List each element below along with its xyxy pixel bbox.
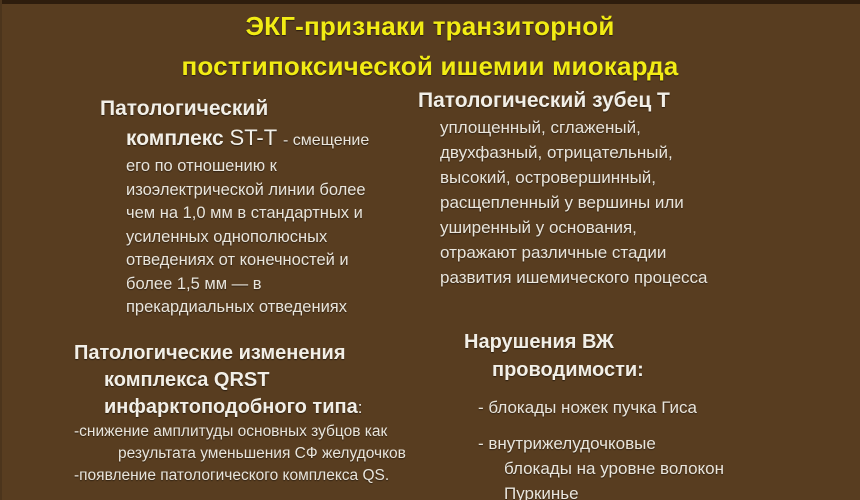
t-wave-body-line-7: развития ишемического процесса: [418, 265, 788, 290]
vzh-bullet-2-line-2: блокады на уровне волокон: [478, 456, 844, 481]
section-ventricular-conduction: Нарушения ВЖ проводимости: - блокады нож…: [464, 328, 844, 500]
t-wave-heading: Патологический зубец Т: [418, 86, 788, 115]
top-edge-strip: [0, 0, 860, 4]
vzh-heading-line-2: проводимости:: [464, 356, 844, 384]
st-t-body-line-3: чем на 1,0 мм в стандартных и: [100, 202, 412, 226]
t-wave-body-line-6: отражают различные стадии: [418, 240, 788, 265]
st-t-body-line-1: его по отношению к: [100, 155, 412, 179]
st-t-heading-tail: - смещение: [283, 132, 369, 149]
t-wave-body-line-4: расщепленный у вершины или: [418, 190, 788, 215]
st-t-heading-bold-word: комплекс: [126, 127, 224, 150]
slide-canvas: ЭКГ-признаки транзиторной постгипоксичес…: [0, 0, 860, 500]
vzh-heading-line-1: Нарушения ВЖ: [464, 328, 844, 356]
vzh-bullet-2-line-3: Пуркинье: [478, 481, 844, 500]
vzh-spacer-2: [464, 420, 844, 431]
t-wave-body-line-5: уширенный у основания,: [418, 215, 788, 240]
qrst-heading-colon: :: [358, 398, 363, 417]
slide-title-line-2: постгипоксической ишемии миокарда: [0, 46, 860, 86]
t-wave-body-line-1: уплощенный, сглаженый,: [418, 115, 788, 140]
vzh-bullet-1: - блокады ножек пучка Гиса: [464, 395, 844, 420]
section-pathological-t-wave: Патологический зубец Т уплощенный, сглаж…: [418, 86, 788, 290]
st-t-body-line-2: изоэлектрической линии более: [100, 179, 412, 203]
qrst-bullet-1-line-1: -снижение амплитуды основных зубцов как: [74, 423, 387, 440]
t-wave-body-line-3: высокий, островершинный,: [418, 165, 788, 190]
st-t-body-line-5: отведениях от конечностей и: [100, 249, 412, 273]
t-wave-body-line-2: двухфазный, отрицательный,: [418, 140, 788, 165]
qrst-heading-line-3-text: инфарктоподобного типа: [104, 396, 358, 418]
st-t-body-line-6: более 1,5 мм — в: [100, 273, 412, 297]
section-st-t-complex: Патологический комплекс ST-T - смещение …: [100, 94, 412, 320]
st-t-heading-line-1: Патологический: [100, 94, 412, 123]
vzh-spacer: [464, 384, 844, 395]
st-t-token: ST-T: [230, 125, 278, 150]
slide-title: ЭКГ-признаки транзиторной постгипоксичес…: [0, 6, 860, 86]
st-t-body-line-7: прекардиальных отведениях: [100, 296, 412, 320]
qrst-bullet-2: -появление патологического комплекса QS.: [74, 465, 434, 487]
slide-title-line-1: ЭКГ-признаки транзиторной: [0, 6, 860, 46]
qrst-heading-line-3: инфарктоподобного типа:: [74, 394, 434, 421]
qrst-bullet-1-line-2: результата уменьшения СФ желудочков: [74, 443, 434, 465]
vzh-bullet-2-line-1: - внутрижелудочковые: [478, 434, 656, 453]
qrst-heading-line-2: комплекса QRST: [74, 367, 434, 394]
st-t-heading-line-2: комплекс ST-T - смещение: [100, 123, 412, 155]
vzh-bullet-2: - внутрижелудочковые блокады на уровне в…: [464, 431, 844, 500]
st-t-body-line-4: усиленных однополюсных: [100, 226, 412, 250]
qrst-bullet-1: -снижение амплитуды основных зубцов как …: [74, 421, 434, 465]
qrst-heading-line-1: Патологические изменения: [74, 340, 434, 367]
section-qrst-changes: Патологические изменения комплекса QRST …: [74, 340, 434, 487]
